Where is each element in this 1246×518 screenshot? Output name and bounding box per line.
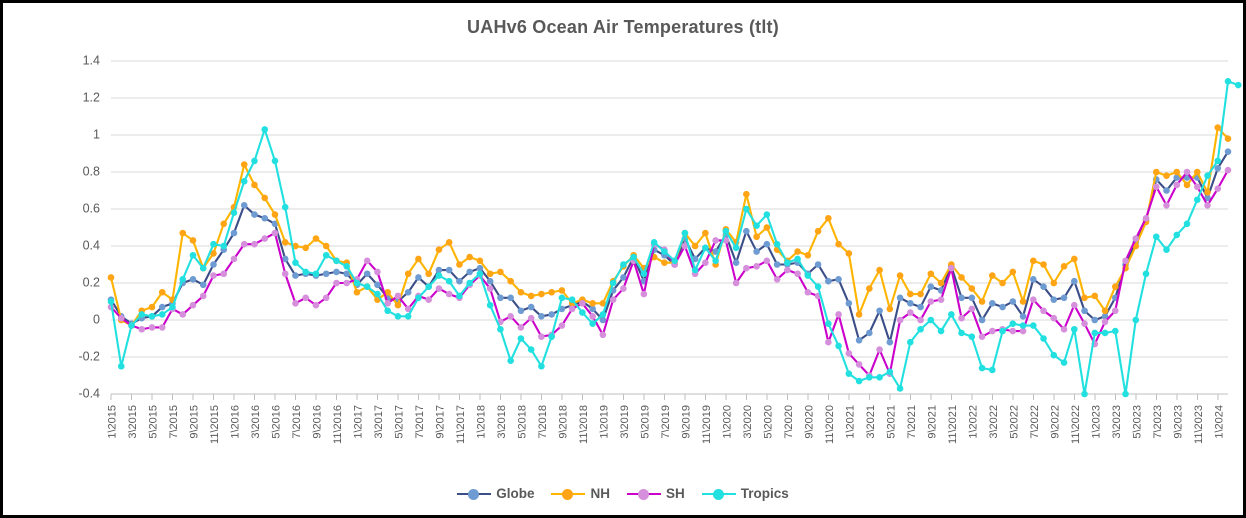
data-point: [231, 209, 238, 216]
data-point: [589, 320, 596, 327]
x-tick-label: 9\2016: [311, 405, 323, 439]
data-point: [764, 241, 771, 248]
data-point: [661, 259, 668, 266]
y-tick-label: -0.2: [78, 349, 100, 363]
y-tick-label: 0.6: [83, 201, 100, 215]
data-point: [159, 324, 166, 331]
data-point: [907, 291, 914, 298]
data-point: [200, 282, 207, 289]
data-point: [159, 289, 166, 296]
data-point: [1214, 185, 1221, 192]
series-line: [111, 128, 1228, 326]
data-point: [1081, 391, 1088, 398]
data-point: [477, 258, 484, 265]
data-point: [579, 309, 586, 316]
data-point: [343, 280, 350, 287]
data-point: [415, 274, 422, 281]
data-point: [1204, 189, 1211, 196]
data-point: [261, 215, 268, 222]
data-point: [702, 230, 709, 237]
data-point: [425, 283, 432, 290]
data-point: [979, 333, 986, 340]
data-point: [241, 178, 248, 185]
x-tick-label: 3\2019: [619, 405, 631, 439]
data-point: [487, 278, 494, 285]
data-point: [753, 248, 760, 255]
data-point: [261, 195, 268, 202]
legend-label: Tropics: [741, 486, 789, 501]
data-point: [835, 276, 842, 283]
y-axis-ticks: 1.41.210.80.60.40.20-0.2-0.4: [78, 53, 100, 400]
data-point: [928, 298, 935, 305]
data-point: [733, 280, 740, 287]
data-point: [1050, 352, 1057, 359]
data-point: [323, 270, 330, 277]
data-point: [487, 270, 494, 277]
data-point: [313, 235, 320, 242]
x-tick-label: 3\2021: [865, 405, 877, 439]
data-point: [887, 339, 894, 346]
x-tick-label: 5\2023: [1131, 405, 1143, 439]
data-point: [569, 306, 576, 313]
data-point: [405, 313, 412, 320]
data-point: [405, 270, 412, 277]
x-tick-label: 7\2022: [1029, 405, 1041, 439]
data-point: [589, 300, 596, 307]
data-point: [753, 263, 760, 270]
data-point: [948, 265, 955, 272]
data-point: [856, 311, 863, 318]
data-point: [179, 311, 186, 318]
data-point: [251, 241, 258, 248]
x-tick-label: 1\2016: [229, 405, 241, 439]
data-point: [1225, 135, 1232, 142]
data-point: [1173, 169, 1180, 176]
data-point: [169, 304, 176, 311]
data-point: [220, 270, 227, 277]
data-point: [774, 261, 781, 268]
x-tick-label: 1\2022: [967, 405, 979, 439]
data-point: [835, 343, 842, 350]
data-point: [917, 317, 924, 324]
x-tick-label: 7\2018: [537, 405, 549, 439]
data-point: [743, 206, 750, 213]
data-point: [958, 315, 965, 322]
data-point: [282, 239, 289, 246]
data-point: [128, 322, 135, 329]
data-point: [958, 274, 965, 281]
data-point: [897, 295, 904, 302]
data-point: [302, 269, 309, 276]
x-tick-label: 3\2017: [373, 405, 385, 439]
data-point: [374, 269, 381, 276]
legend-item-tropics[interactable]: Tropics: [702, 486, 789, 501]
data-point: [887, 369, 894, 376]
x-tick-label: 1\2015: [107, 405, 119, 439]
data-point: [815, 283, 822, 290]
x-tick-label: 5\2022: [1008, 405, 1020, 439]
x-tick-label: 7\2016: [291, 405, 303, 439]
data-point: [1163, 246, 1170, 253]
data-point: [1225, 78, 1232, 85]
x-tick-label: 5\2021: [885, 405, 897, 439]
data-point: [589, 313, 596, 320]
data-point: [825, 339, 832, 346]
data-point: [415, 256, 422, 263]
data-point: [897, 385, 904, 392]
data-point: [620, 285, 627, 292]
data-point: [876, 307, 883, 314]
gridlines: [111, 61, 1228, 394]
data-point: [354, 289, 361, 296]
data-point: [200, 293, 207, 300]
data-point: [712, 258, 719, 265]
x-tick-label: 9\2015: [188, 405, 200, 439]
data-point: [518, 324, 525, 331]
data-point: [487, 302, 494, 309]
data-point: [1112, 283, 1119, 290]
x-tick-label: 11\2023: [1193, 405, 1205, 444]
data-point: [190, 302, 197, 309]
x-tick-label: 11\2018: [578, 405, 590, 444]
data-point: [856, 337, 863, 344]
data-point: [395, 302, 402, 309]
data-point: [1102, 330, 1109, 337]
x-tick-label: 11\2019: [701, 405, 713, 444]
data-point: [292, 272, 299, 279]
data-point: [436, 285, 443, 292]
x-tick-label: 1\2023: [1090, 405, 1102, 439]
data-point: [364, 258, 371, 265]
data-point: [774, 276, 781, 283]
x-tick-label: 5\2015: [147, 405, 159, 439]
data-point: [1009, 298, 1016, 305]
data-point: [743, 191, 750, 198]
data-point: [1153, 184, 1160, 191]
data-point: [210, 272, 217, 279]
data-point: [1091, 317, 1098, 324]
data-point: [1020, 313, 1027, 320]
x-tick-label: 1\2021: [844, 405, 856, 439]
data-point: [651, 239, 658, 246]
data-point: [630, 254, 637, 261]
data-point: [518, 307, 525, 314]
data-point: [1102, 319, 1109, 326]
data-point: [374, 291, 381, 298]
data-point: [1050, 280, 1057, 287]
x-tick-label: 9\2020: [803, 405, 815, 439]
data-point: [1184, 169, 1191, 176]
data-point: [815, 261, 822, 268]
y-tick-label: 0.4: [83, 238, 100, 252]
data-point: [333, 258, 340, 265]
data-point: [548, 311, 555, 318]
data-point: [528, 293, 535, 300]
data-point: [989, 300, 996, 307]
data-point: [159, 304, 166, 311]
data-point: [1143, 215, 1150, 222]
data-point: [507, 357, 514, 364]
data-point: [846, 300, 853, 307]
data-point: [723, 228, 730, 235]
data-point: [282, 270, 289, 277]
data-point: [323, 295, 330, 302]
data-point: [138, 311, 145, 318]
data-point: [1091, 293, 1098, 300]
x-tick-label: 7\2017: [414, 405, 426, 439]
data-point: [600, 332, 607, 339]
x-tick-label: 3\2016: [250, 405, 262, 439]
x-tick-label: 3\2020: [742, 405, 754, 439]
data-point: [477, 270, 484, 277]
data-point: [753, 222, 760, 229]
plot-area: 1.41.210.80.60.40.20-0.2-0.4 1\20153\201…: [3, 3, 1246, 518]
data-point: [999, 280, 1006, 287]
data-point: [333, 269, 340, 276]
data-point: [979, 365, 986, 372]
data-point: [969, 295, 976, 302]
data-point: [1153, 169, 1160, 176]
data-point: [1102, 307, 1109, 314]
legend-swatch-icon: [457, 488, 491, 500]
data-point: [466, 254, 473, 261]
data-point: [343, 263, 350, 270]
data-point: [108, 298, 115, 305]
data-point: [1163, 202, 1170, 209]
legend-item-nh[interactable]: NH: [551, 486, 610, 501]
data-point: [1173, 182, 1180, 189]
x-tick-label: 11\2022: [1070, 405, 1082, 444]
data-point: [743, 265, 750, 272]
data-point: [354, 280, 361, 287]
data-point: [641, 291, 648, 298]
data-point: [1204, 202, 1211, 209]
data-point: [702, 259, 709, 266]
data-point: [1061, 295, 1068, 302]
data-point: [497, 326, 504, 333]
data-point: [374, 282, 381, 289]
data-point: [1143, 270, 1150, 277]
x-tick-label: 3\2018: [496, 405, 508, 439]
data-point: [1040, 335, 1047, 342]
data-point: [979, 317, 986, 324]
data-point: [446, 278, 453, 285]
data-point: [1153, 233, 1160, 240]
data-point: [1071, 302, 1078, 309]
data-point: [866, 285, 873, 292]
x-tick-label: 9\2018: [557, 405, 569, 439]
data-point: [159, 311, 166, 318]
data-point: [210, 241, 217, 248]
x-tick-label: 11\2020: [824, 405, 836, 444]
data-point: [200, 265, 207, 272]
data-point: [1204, 172, 1211, 179]
data-point: [507, 295, 514, 302]
data-point: [835, 241, 842, 248]
data-point: [846, 370, 853, 377]
data-point: [272, 211, 279, 218]
data-point: [1030, 322, 1037, 329]
x-tick-label: 7\2015: [168, 405, 180, 439]
data-point: [231, 230, 238, 237]
data-point: [1081, 295, 1088, 302]
x-tick-label: 1\2019: [598, 405, 610, 439]
data-point: [436, 272, 443, 279]
data-point: [518, 335, 525, 342]
data-point: [1122, 391, 1129, 398]
data-point: [364, 270, 371, 277]
data-point: [1184, 182, 1191, 189]
legend-item-globe[interactable]: Globe: [457, 486, 534, 501]
data-point: [907, 309, 914, 316]
data-point: [559, 322, 566, 329]
data-point: [1061, 359, 1068, 366]
data-point: [610, 280, 617, 287]
data-point: [1040, 261, 1047, 268]
x-tick-label: 11\2015: [209, 405, 221, 444]
data-point: [989, 272, 996, 279]
x-tick-label: 5\2020: [762, 405, 774, 439]
data-point: [958, 330, 965, 337]
data-point: [138, 326, 145, 333]
data-point: [282, 204, 289, 211]
data-point: [1163, 187, 1170, 194]
data-point: [661, 248, 668, 255]
data-point: [1040, 307, 1047, 314]
data-point: [671, 258, 678, 265]
data-point: [856, 361, 863, 368]
data-point: [446, 267, 453, 274]
data-point: [395, 293, 402, 300]
data-point: [1061, 326, 1068, 333]
data-point: [179, 276, 186, 283]
data-point: [528, 346, 535, 353]
data-point: [323, 252, 330, 259]
data-point: [395, 313, 402, 320]
data-point: [528, 315, 535, 322]
legend-label: Globe: [496, 486, 534, 501]
data-point: [538, 363, 545, 370]
data-point: [733, 245, 740, 252]
data-point: [466, 280, 473, 287]
data-point: [825, 215, 832, 222]
data-point: [1235, 82, 1242, 89]
data-point: [251, 211, 258, 218]
data-point: [846, 350, 853, 357]
data-point: [548, 333, 555, 340]
data-point: [989, 328, 996, 335]
data-point: [825, 320, 832, 327]
legend-item-sh[interactable]: SH: [627, 486, 685, 501]
data-point: [538, 313, 545, 320]
data-point: [333, 280, 340, 287]
data-point: [538, 291, 545, 298]
data-point: [559, 287, 566, 294]
data-point: [805, 252, 812, 259]
data-point: [190, 276, 197, 283]
legend-label: NH: [590, 486, 610, 501]
data-point: [1009, 269, 1016, 276]
data-point: [1194, 196, 1201, 203]
data-point: [764, 258, 771, 265]
data-point: [1030, 296, 1037, 303]
data-point: [272, 230, 279, 237]
data-point: [1163, 172, 1170, 179]
data-point: [999, 304, 1006, 311]
data-point: [190, 252, 197, 259]
data-point: [938, 328, 945, 335]
data-point: [692, 267, 699, 274]
data-point: [897, 317, 904, 324]
data-point: [538, 333, 545, 340]
data-point: [1081, 307, 1088, 314]
data-point: [261, 235, 268, 242]
data-point: [1214, 158, 1221, 165]
data-point: [1009, 320, 1016, 327]
data-point: [149, 324, 156, 331]
x-tick-label: 7\2023: [1152, 405, 1164, 439]
x-tick-label: 1\2020: [721, 405, 733, 439]
x-tick-label: 7\2021: [906, 405, 918, 439]
y-tick-label: 0.2: [83, 275, 100, 289]
data-point: [846, 250, 853, 257]
data-point: [794, 270, 801, 277]
data-point: [425, 270, 432, 277]
data-point: [928, 270, 935, 277]
data-point: [456, 278, 463, 285]
data-point: [1122, 258, 1129, 265]
data-point: [497, 295, 504, 302]
data-point: [313, 270, 320, 277]
data-point: [1225, 148, 1232, 155]
x-tick-label: 5\2016: [270, 405, 282, 439]
data-point: [938, 296, 945, 303]
data-point: [897, 272, 904, 279]
data-point: [743, 228, 750, 235]
y-tick-label: 1.4: [83, 53, 100, 67]
data-point: [149, 313, 156, 320]
data-point: [1050, 315, 1057, 322]
x-tick-label: 11\2021: [947, 405, 959, 444]
data-point: [118, 315, 125, 322]
data-point: [302, 295, 309, 302]
x-tick-label: 11\2017: [455, 405, 467, 444]
legend-label: SH: [666, 486, 685, 501]
data-point: [1132, 317, 1139, 324]
data-point: [456, 261, 463, 268]
data-point: [1214, 124, 1221, 131]
data-point: [1020, 322, 1027, 329]
data-point: [764, 224, 771, 231]
data-point: [1194, 169, 1201, 176]
data-point: [292, 259, 299, 266]
data-point: [969, 285, 976, 292]
data-point: [938, 280, 945, 287]
data-point: [528, 304, 535, 311]
data-point: [917, 304, 924, 311]
data-point: [805, 272, 812, 279]
x-tick-label: 9\2023: [1172, 405, 1184, 439]
data-point: [1132, 235, 1139, 242]
legend-swatch-icon: [551, 488, 585, 500]
data-point: [958, 295, 965, 302]
data-point: [456, 293, 463, 300]
data-point: [692, 243, 699, 250]
data-point: [989, 367, 996, 374]
data-point: [548, 289, 555, 296]
legend-swatch-icon: [627, 488, 661, 500]
data-point: [507, 313, 514, 320]
